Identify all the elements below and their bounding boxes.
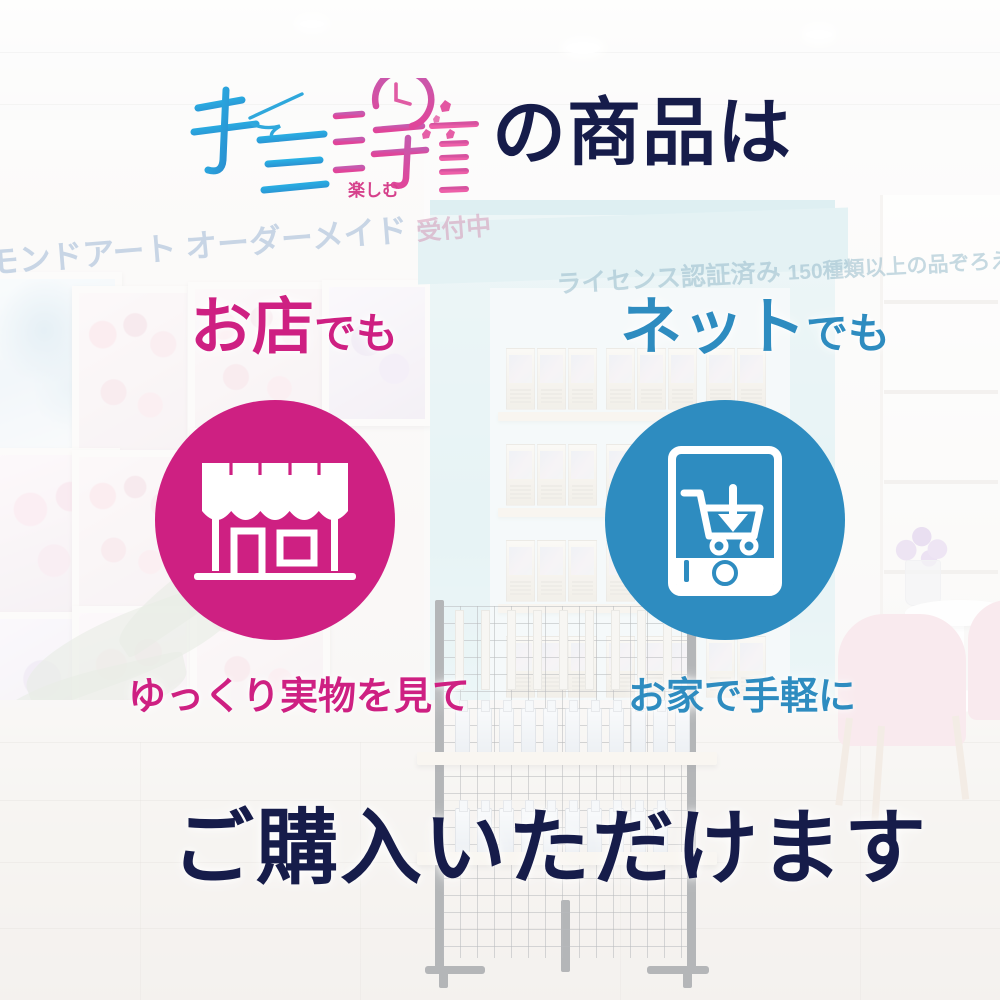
column-heading-store: お店でも [190, 297, 398, 359]
storefront-icon [190, 445, 360, 595]
caption-store: ゆっくり実物を見て [128, 678, 470, 716]
tablet-cart-icon [650, 440, 800, 600]
online-shop-badge [605, 400, 845, 640]
headline: の商品は [492, 96, 792, 170]
column-heading-net: ネットでも [620, 297, 890, 359]
footer-message: ご購入いただけます [172, 808, 928, 890]
column-heading-store-big: お店 [190, 293, 314, 362]
column-heading-net-small: でも [806, 310, 890, 357]
column-heading-store-small: でも [314, 310, 398, 357]
column-heading-net-big: ネット [620, 293, 806, 362]
logo-sub-text: 楽しむ [348, 180, 399, 200]
caption-net: お家で手軽に [628, 678, 856, 716]
brand-logo: 楽しむ [190, 78, 480, 200]
storefront-badge [155, 400, 395, 640]
promo-banner: モンドアート オーダーメイド 受付中 ライセンス認証済み 150種類以上の品ぞろ… [0, 0, 1000, 1000]
